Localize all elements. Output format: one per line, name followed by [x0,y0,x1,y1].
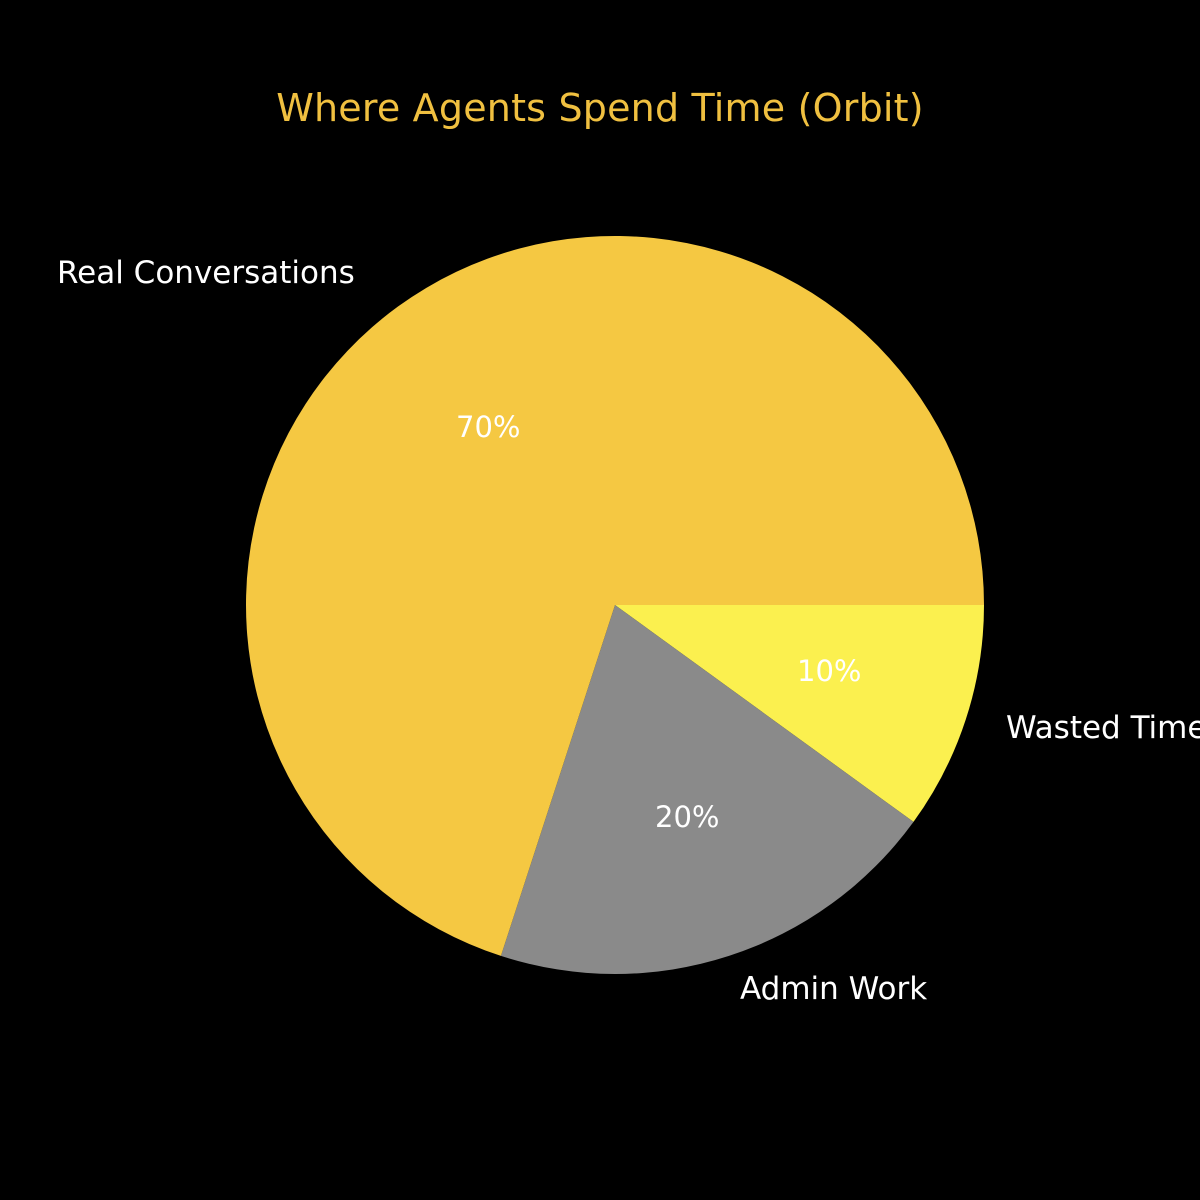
pie-chart-canvas [0,0,1200,1200]
pie-label-real-conversations: Real Conversations [57,258,355,289]
pie-percent-admin-work: 20% [655,803,719,832]
pie-chart-figure: Where Agents Spend Time (Orbit) Real Con… [0,0,1200,1200]
pie-percent-real-conversations: 70% [456,413,520,442]
pie-label-admin-work: Admin Work [740,974,927,1005]
pie-label-wasted-time: Wasted Time [1006,713,1200,744]
pie-percent-wasted-time: 10% [797,657,861,686]
